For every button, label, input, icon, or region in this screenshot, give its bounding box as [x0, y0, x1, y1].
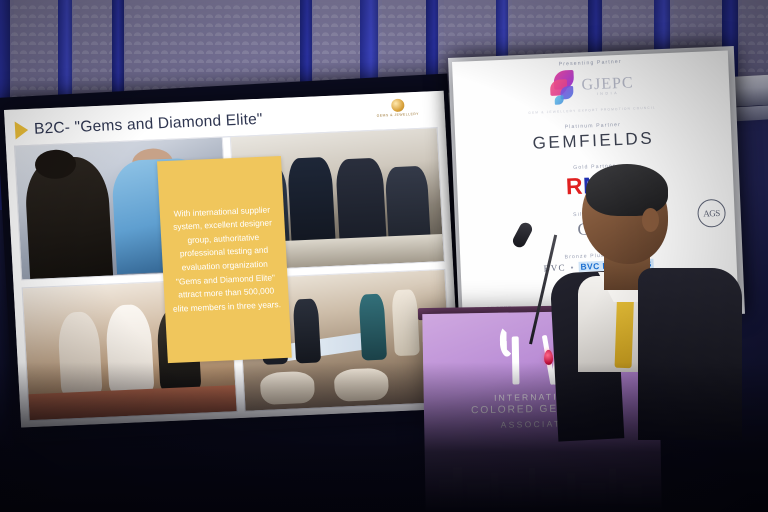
slide-callout-box: With international supplier system, exce…	[157, 156, 292, 363]
gjepc-logo: GJEPC INDIA	[548, 66, 635, 106]
arrow-bullet-icon	[15, 121, 29, 140]
tier-label: Platinum Partner	[565, 122, 621, 130]
gjepc-subtext: INDIA	[597, 91, 620, 96]
floor-shadow	[0, 362, 768, 512]
slide-callout-text: With international supplier system, exce…	[168, 203, 282, 316]
photo-scene: B2C- "Gems and Diamond Elite" GEMS & JEW…	[0, 0, 768, 512]
figure-head	[34, 149, 77, 180]
slide-corner-logo: GEMS & JEWELLERY	[360, 93, 435, 122]
tier-platinum-partner: Platinum Partner GEMFIELDS	[455, 117, 732, 157]
gjepc-mark-icon	[548, 69, 579, 106]
corner-logo-mark-icon	[390, 99, 404, 113]
ear	[642, 208, 659, 232]
figure	[359, 293, 387, 360]
figure	[293, 299, 321, 364]
figure	[392, 289, 420, 356]
tier-label: Presenting Partner	[559, 59, 622, 68]
corner-logo-text: GEMS & JEWELLERY	[377, 112, 419, 118]
slide-title: B2C- "Gems and Diamond Elite"	[34, 111, 264, 139]
gjepc-tagline: GEM & JEWELLERY EXPORT PROMOTION COUNCIL	[528, 106, 656, 115]
gemfields-logo: GEMFIELDS	[532, 129, 654, 154]
tier-presenting-partner: Presenting Partner GJEPC INDIA GEM & JEW…	[452, 54, 730, 118]
hair	[586, 164, 668, 216]
